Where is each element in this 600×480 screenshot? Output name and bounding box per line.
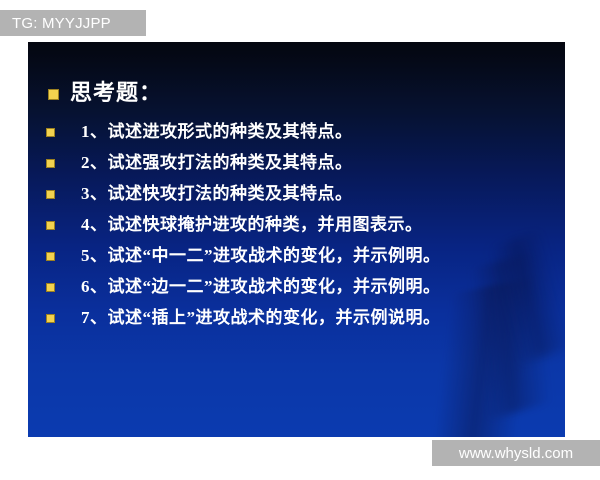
question-text: 2、试述强攻打法的种类及其特点。 <box>81 152 353 174</box>
square-bullet-icon <box>46 252 55 261</box>
question-text: 5、试述“中一二”进攻战术的变化，并示例明。 <box>81 245 441 267</box>
question-item: 5、试述“中一二”进攻战术的变化，并示例明。 <box>46 245 441 267</box>
slide-content: 思考题： 1、试述进攻形式的种类及其特点。 2、试述强攻打法的种类及其特点。 3… <box>28 42 565 437</box>
question-item: 1、试述进攻形式的种类及其特点。 <box>46 121 353 143</box>
tag-chip: TG: MYYJJPP <box>0 10 146 36</box>
question-text: 6、试述“边一二”进攻战术的变化，并示例明。 <box>81 276 441 298</box>
watermark: www.whysld.com <box>432 440 600 466</box>
presentation-slide: 思考题： 1、试述进攻形式的种类及其特点。 2、试述强攻打法的种类及其特点。 3… <box>28 42 565 437</box>
square-bullet-icon <box>46 190 55 199</box>
question-item: 3、试述快攻打法的种类及其特点。 <box>46 183 353 205</box>
square-bullet-icon <box>46 159 55 168</box>
question-item: 4、试述快球掩护进攻的种类，并用图表示。 <box>46 214 423 236</box>
square-bullet-icon <box>48 89 59 100</box>
slide-title-row: 思考题： <box>48 80 162 106</box>
square-bullet-icon <box>46 221 55 230</box>
watermark-label: www.whysld.com <box>459 446 573 461</box>
question-item: 6、试述“边一二”进攻战术的变化，并示例明。 <box>46 276 441 298</box>
question-text: 1、试述进攻形式的种类及其特点。 <box>81 121 353 143</box>
question-item: 2、试述强攻打法的种类及其特点。 <box>46 152 353 174</box>
square-bullet-icon <box>46 283 55 292</box>
tag-chip-label: TG: MYYJJPP <box>12 16 111 31</box>
square-bullet-icon <box>46 128 55 137</box>
question-item: 7、试述“插上”进攻战术的变化，并示例说明。 <box>46 307 441 329</box>
question-text: 3、试述快攻打法的种类及其特点。 <box>81 183 353 205</box>
question-text: 4、试述快球掩护进攻的种类，并用图表示。 <box>81 214 423 236</box>
square-bullet-icon <box>46 314 55 323</box>
slide-title: 思考题： <box>70 80 162 106</box>
question-text: 7、试述“插上”进攻战术的变化，并示例说明。 <box>81 307 441 329</box>
